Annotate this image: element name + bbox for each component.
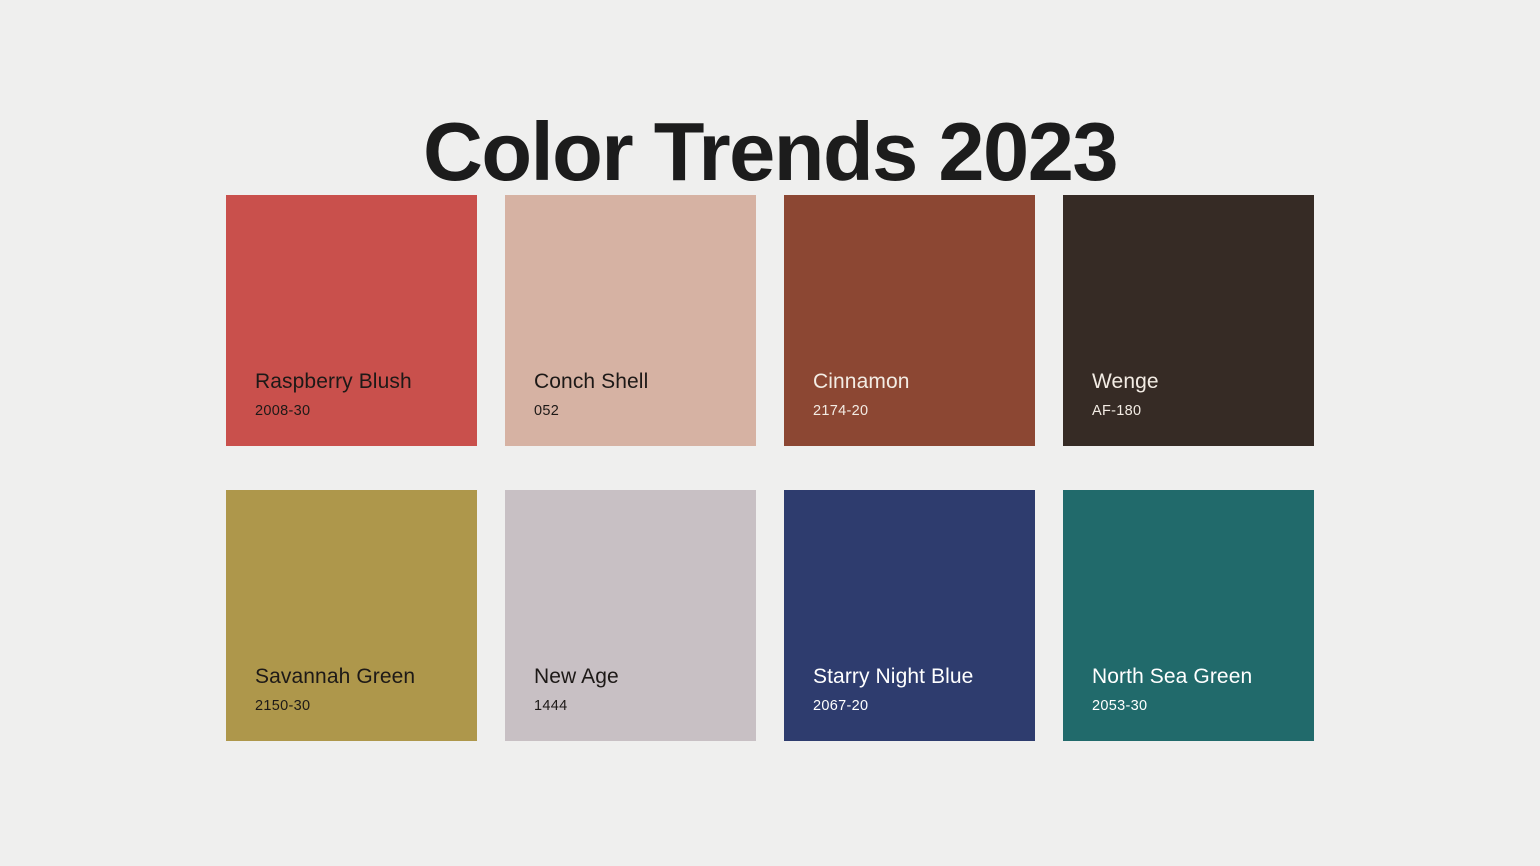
swatch-name: North Sea Green [1092, 664, 1302, 690]
swatch-code: 1444 [534, 698, 744, 715]
swatch-code: 2174-20 [813, 403, 1023, 420]
color-swatch-new-age[interactable]: New Age 1444 [505, 490, 756, 741]
swatch-caption: Wenge AF-180 [1092, 369, 1302, 420]
swatch-caption: Conch Shell 052 [534, 369, 744, 420]
swatch-name: New Age [534, 664, 744, 690]
swatch-name: Cinnamon [813, 369, 1023, 395]
swatch-caption: Raspberry Blush 2008-30 [255, 369, 465, 420]
swatch-caption: Savannah Green 2150-30 [255, 664, 465, 715]
swatch-caption: North Sea Green 2053-30 [1092, 664, 1302, 715]
swatch-name: Conch Shell [534, 369, 744, 395]
swatch-code: 2067-20 [813, 698, 1023, 715]
swatch-caption: Starry Night Blue 2067-20 [813, 664, 1023, 715]
swatch-name: Savannah Green [255, 664, 465, 690]
color-swatch-conch-shell[interactable]: Conch Shell 052 [505, 195, 756, 446]
swatch-code: 2053-30 [1092, 698, 1302, 715]
swatch-caption: New Age 1444 [534, 664, 744, 715]
palette-grid: Raspberry Blush 2008-30 Conch Shell 052 … [226, 195, 1315, 741]
color-swatch-north-sea-green[interactable]: North Sea Green 2053-30 [1063, 490, 1314, 741]
swatch-name: Wenge [1092, 369, 1302, 395]
swatch-code: 2008-30 [255, 403, 465, 420]
color-swatch-savannah-green[interactable]: Savannah Green 2150-30 [226, 490, 477, 741]
swatch-caption: Cinnamon 2174-20 [813, 369, 1023, 420]
color-swatch-wenge[interactable]: Wenge AF-180 [1063, 195, 1314, 446]
swatch-name: Starry Night Blue [813, 664, 1023, 690]
swatch-code: 052 [534, 403, 744, 420]
swatch-code: 2150-30 [255, 698, 465, 715]
color-swatch-starry-night-blue[interactable]: Starry Night Blue 2067-20 [784, 490, 1035, 741]
page-title: Color Trends 2023 [0, 110, 1540, 193]
color-trends-page: Color Trends 2023 Raspberry Blush 2008-3… [0, 0, 1540, 866]
color-swatch-cinnamon[interactable]: Cinnamon 2174-20 [784, 195, 1035, 446]
color-swatch-raspberry-blush[interactable]: Raspberry Blush 2008-30 [226, 195, 477, 446]
swatch-code: AF-180 [1092, 403, 1302, 420]
swatch-name: Raspberry Blush [255, 369, 465, 395]
